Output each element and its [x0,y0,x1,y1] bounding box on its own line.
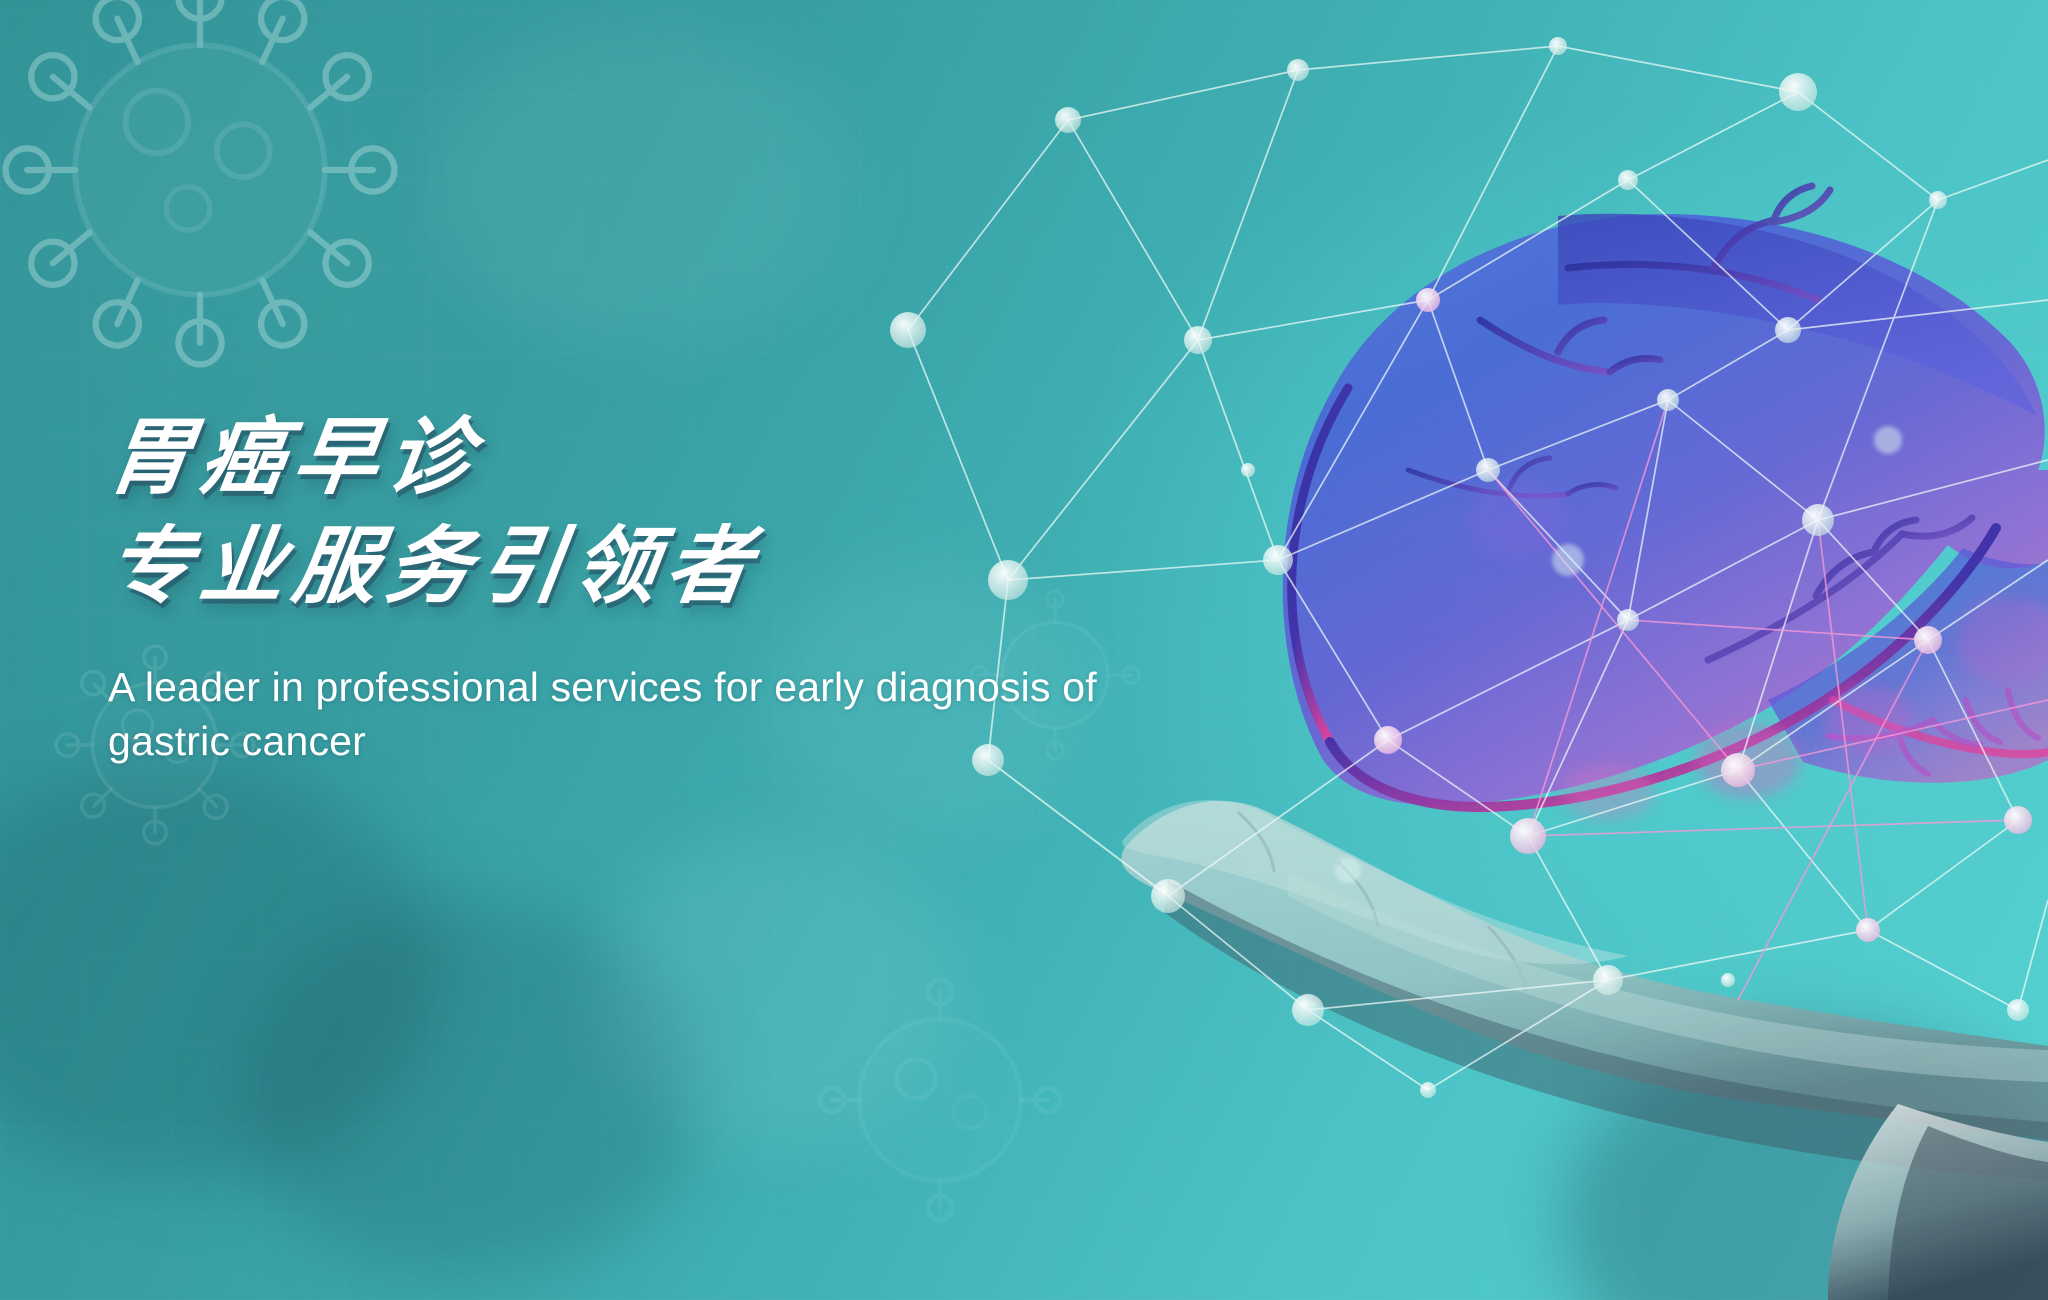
bokeh-blob [430,20,850,350]
bokeh-blob [600,830,960,1150]
bokeh-blob [1560,1030,2048,1300]
bokeh-blob [240,900,700,1280]
hero-copy: 胃癌早诊 专业服务引领者 A leader in professional se… [108,408,1148,768]
stomach-organ [1283,186,2048,820]
subtitle: A leader in professional services for ea… [108,660,1118,768]
headline-line-1: 胃癌早诊 [101,408,1155,507]
open-palm-hand-icon [1121,800,2048,1180]
virus-icon [790,950,1090,1250]
bokeh-blob [0,760,440,1180]
virus-icon [0,0,440,410]
lab-coat-sleeve [1828,1104,2048,1300]
headline-line-2: 专业服务引领者 [101,517,1155,616]
hero-banner: 胃癌早诊 专业服务引领者 A leader in professional se… [0,0,2048,1300]
